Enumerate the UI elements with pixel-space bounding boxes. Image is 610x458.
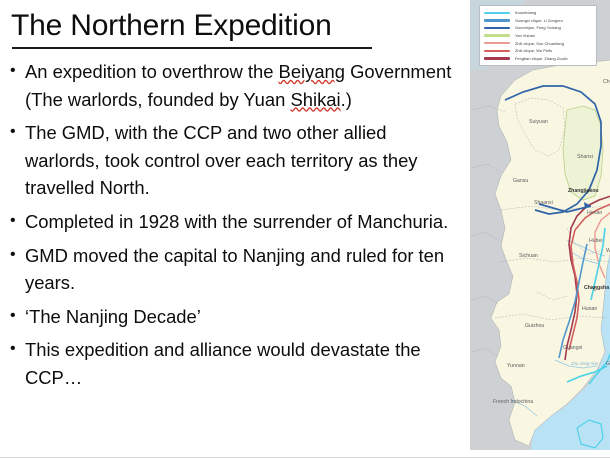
bullet-text-run: .) <box>341 89 352 110</box>
legend-row: Guangxi clique, Li Zongren <box>484 17 593 25</box>
legend-label: Kuomintang <box>515 10 536 15</box>
legend-color-swatch <box>484 50 510 52</box>
slide-text-column: The Northern Expedition An expedition to… <box>0 0 470 450</box>
legend-label: Zhili clique, Wu Peifu <box>515 48 552 53</box>
map-place-label: Hunan <box>582 306 597 312</box>
bullet-text-run: ‘The Nanjing Decade’ <box>25 306 201 327</box>
map-region-shanxi-fill <box>563 106 603 200</box>
map-place-label: Shaanxi <box>534 200 553 206</box>
legend-label: Guangxi clique, Li Zongren <box>515 18 563 23</box>
map-place-label: Guizhou <box>525 323 544 329</box>
legend-row: Guominjun, Feng Yuxiang <box>484 24 593 32</box>
bullet-text-run: The GMD, with the CCP and two other alli… <box>25 122 418 198</box>
legend-color-swatch <box>484 34 510 36</box>
bullet-list: An expedition to overthrow the Beiyang G… <box>8 58 464 398</box>
bullet-item-3: Completed in 1928 with the surrender of … <box>8 208 464 236</box>
legend-row: Kuomintang <box>484 9 593 17</box>
legend-color-swatch <box>484 57 510 59</box>
legend-color-swatch <box>484 42 510 44</box>
map-place-label: Changsha <box>584 285 609 291</box>
legend-color-swatch <box>484 19 510 21</box>
map-place-label: Zhangjiakou <box>568 188 599 194</box>
legend-row: Zhili clique, Wu Peifu <box>484 47 593 55</box>
bullet-item-2: The GMD, with the CCP and two other alli… <box>8 119 464 202</box>
map-place-label: Guangxi <box>563 345 582 351</box>
spellcheck-underlined-word: Shikai <box>290 89 340 110</box>
legend-color-swatch <box>484 27 510 29</box>
legend-row: Zhili clique, Sun Chuanfang <box>484 39 593 47</box>
map-graphic: SuiyuanShanxiGansuZhangjiakouShaanxiHena… <box>471 0 610 450</box>
map-place-label: Yunnan <box>507 363 525 369</box>
china-warlord-map: SuiyuanShanxiGansuZhangjiakouShaanxiHena… <box>470 0 610 450</box>
map-legend: KuomintangGuangxi clique, Li ZongrenGuom… <box>479 5 597 66</box>
bullet-text-run: An expedition to overthrow the <box>25 61 279 82</box>
map-place-label: Suiyuan <box>529 119 548 125</box>
legend-label: Yan Xishan <box>515 33 535 38</box>
legend-label: Guominjun, Feng Yuxiang <box>515 25 561 30</box>
map-river-label: Zhu Jiang river <box>570 361 599 366</box>
map-place-label: Wu <box>606 248 610 254</box>
map-river-labels: Zhu Jiang river <box>570 361 599 366</box>
map-place-label: Hubei <box>589 238 603 244</box>
map-place-label: Chu <box>603 79 610 85</box>
map-place-label: Shanxi <box>577 154 593 160</box>
legend-label: Fengtian clique, Zhang Zuolin <box>515 56 568 61</box>
legend-color-swatch <box>484 12 510 14</box>
bullet-item-6: This expedition and alliance would devas… <box>8 336 464 391</box>
bullet-text-run: GMD moved the capital to Nanjing and rul… <box>25 245 444 294</box>
title-underline-rule <box>12 47 372 49</box>
bullet-item-1: An expedition to overthrow the Beiyang G… <box>8 58 464 113</box>
legend-row: Yan Xishan <box>484 32 593 40</box>
map-place-label: Gu <box>606 361 610 367</box>
slide-canvas: The Northern Expedition An expedition to… <box>0 0 610 458</box>
legend-row: Fengtian clique, Zhang Zuolin <box>484 55 593 63</box>
legend-label: Zhili clique, Sun Chuanfang <box>515 41 564 46</box>
map-place-label: Henan <box>587 210 602 216</box>
page-title: The Northern Expedition <box>11 8 332 44</box>
bullet-item-4: GMD moved the capital to Nanjing and rul… <box>8 242 464 297</box>
bullet-text-run: This expedition and alliance would devas… <box>25 339 421 388</box>
map-place-label: Gansu <box>513 178 528 184</box>
bullet-item-5: ‘The Nanjing Decade’ <box>8 303 464 331</box>
map-place-label: French Indochina <box>493 399 533 405</box>
spellcheck-underlined-word: Beiyang <box>279 61 345 82</box>
bullet-text-run: Completed in 1928 with the surrender of … <box>25 211 448 232</box>
map-place-label: Sichuan <box>519 253 538 259</box>
